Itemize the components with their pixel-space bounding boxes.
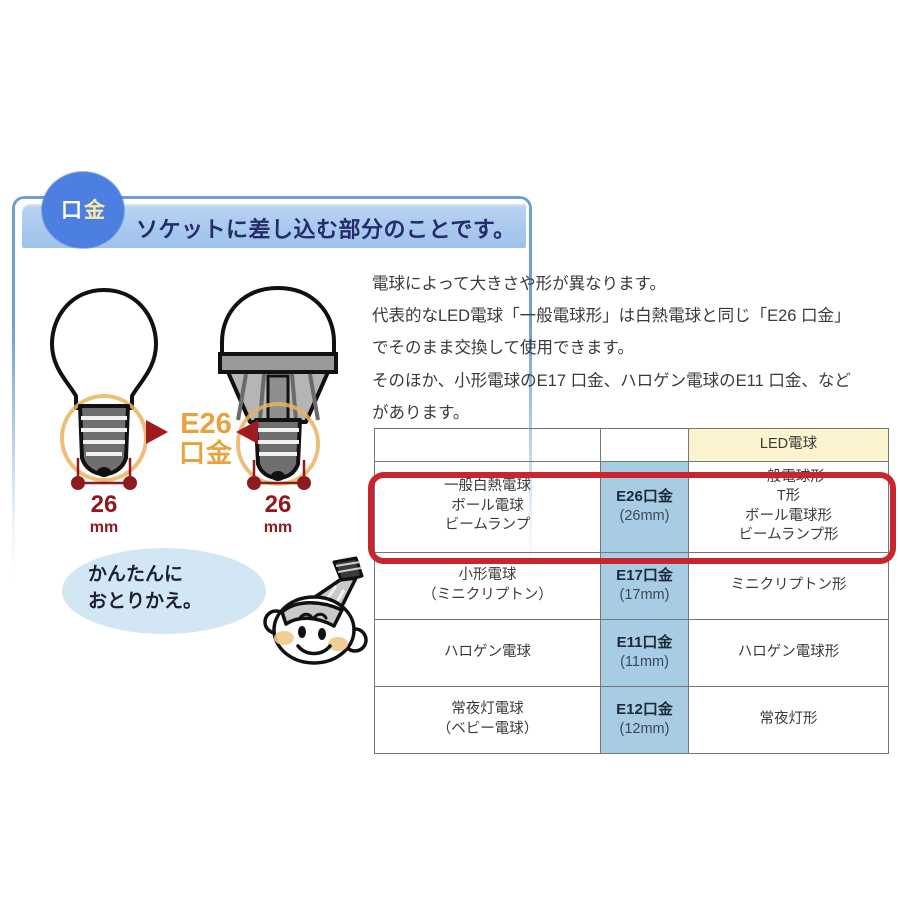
led-bulb-mascot-icon — [256, 556, 374, 670]
led-type-line: ミニクリプトン形 — [693, 576, 884, 596]
kuchigane-badge: 口 金 — [42, 172, 124, 248]
bulb-type-line: 一般白熱電球 — [379, 477, 596, 497]
cell-socket-size: E12口金(12mm) — [601, 686, 689, 753]
header-blank-bulb — [375, 429, 601, 462]
speech-bubble-text: かんたんに おとりかえ。 — [88, 562, 202, 616]
led-type-line: ボール電球形 — [693, 507, 884, 527]
led-type-line: ビームランプ形 — [693, 526, 884, 546]
led-type-line: ハロゲン電球形 — [693, 643, 884, 663]
speech-bubble-line1: かんたんに — [88, 562, 202, 589]
header-blank-socket — [601, 429, 689, 462]
socket-millimeters: (26mm) — [605, 507, 684, 527]
description-line-2: 代表的なLED電球「一般電球形」は白熱電球と同じ「E26 口金」 — [372, 300, 892, 332]
header-banner-text: ソケットに差し込む部分のことです。 — [136, 212, 516, 244]
incandescent-bulb-graphic — [52, 290, 156, 490]
cell-bulb-type: 小形電球（ミニクリプトン） — [375, 552, 601, 619]
description-line-4: そのほか、小形電球のE17 口金、ハロゲン電球のE11 口金、など — [372, 365, 892, 397]
left-dimension-unit: mm — [90, 519, 118, 536]
badge-char-kuchi: 口 — [61, 200, 82, 221]
cell-led-type: 一般電球形T形ボール電球形ビームランプ形 — [689, 461, 889, 552]
socket-spec-table-wrapper: LED電球 一般白熱電球ボール電球ビームランプE26口金(26mm)一般電球形T… — [374, 428, 888, 754]
socket-name: E26口金 — [605, 487, 684, 507]
bulb-type-line: 小形電球 — [379, 566, 596, 586]
socket-name: E11口金 — [605, 633, 684, 653]
e26-label-line2: 口金 — [179, 440, 233, 467]
badge-char-kane: 金 — [84, 200, 105, 221]
bulb-type-line: ハロゲン電球 — [379, 643, 596, 663]
table-row: ハロゲン電球E11口金(11mm)ハロゲン電球形 — [375, 619, 889, 686]
description-line-1: 電球によって大きさや形が異なります。 — [372, 268, 892, 300]
table-row: 小形電球（ミニクリプトン）E17口金(17mm)ミニクリプトン形 — [375, 552, 889, 619]
socket-name: E17口金 — [605, 566, 684, 586]
socket-millimeters: (17mm) — [605, 586, 684, 606]
table-header-row: LED電球 — [375, 429, 889, 462]
bulb-type-line: 常夜灯電球 — [379, 700, 596, 720]
socket-name: E12口金 — [605, 700, 684, 720]
cell-bulb-type: ハロゲン電球 — [375, 619, 601, 686]
description-text: 電球によって大きさや形が異なります。 代表的なLED電球「一般電球形」は白熱電球… — [372, 268, 892, 429]
led-type-line: 一般電球形 — [693, 468, 884, 488]
cell-socket-size: E17口金(17mm) — [601, 552, 689, 619]
bulb-type-line: （ベビー電球） — [379, 720, 596, 740]
right-dimension-unit: mm — [264, 519, 292, 536]
led-type-line: 常夜灯形 — [693, 710, 884, 730]
description-line-5: があります。 — [372, 397, 892, 429]
left-dimension-value: 26 — [91, 491, 118, 518]
cell-socket-size: E11口金(11mm) — [601, 619, 689, 686]
cell-led-type: ハロゲン電球形 — [689, 619, 889, 686]
cell-bulb-type: 常夜灯電球（ベビー電球） — [375, 686, 601, 753]
socket-millimeters: (12mm) — [605, 720, 684, 740]
bulb-type-line: ビームランプ — [379, 516, 596, 536]
cell-led-type: ミニクリプトン形 — [689, 552, 889, 619]
table-row: 常夜灯電球（ベビー電球）E12口金(12mm)常夜灯形 — [375, 686, 889, 753]
table-row: 一般白熱電球ボール電球ビームランプE26口金(26mm)一般電球形T形ボール電球… — [375, 461, 889, 552]
bulb-type-line: （ミニクリプトン） — [379, 586, 596, 606]
right-dimension-value: 26 — [265, 491, 292, 518]
socket-spec-table: LED電球 一般白熱電球ボール電球ビームランプE26口金(26mm)一般電球形T… — [374, 428, 889, 754]
infographic-page: ソケットに差し込む部分のことです。 口 金 — [0, 0, 900, 900]
cell-bulb-type: 一般白熱電球ボール電球ビームランプ — [375, 461, 601, 552]
cell-socket-size: E26口金(26mm) — [601, 461, 689, 552]
cell-led-type: 常夜灯形 — [689, 686, 889, 753]
speech-bubble-line2: おとりかえ。 — [88, 589, 202, 616]
description-line-3: でそのまま交換して使用できます。 — [372, 332, 892, 364]
bulb-type-line: ボール電球 — [379, 497, 596, 517]
e26-label-line1: E26 — [180, 410, 232, 440]
header-led-bulb: LED電球 — [689, 429, 889, 462]
socket-millimeters: (11mm) — [605, 653, 684, 673]
e26-center-label: E26 口金 — [150, 392, 262, 484]
led-type-line: T形 — [693, 487, 884, 507]
